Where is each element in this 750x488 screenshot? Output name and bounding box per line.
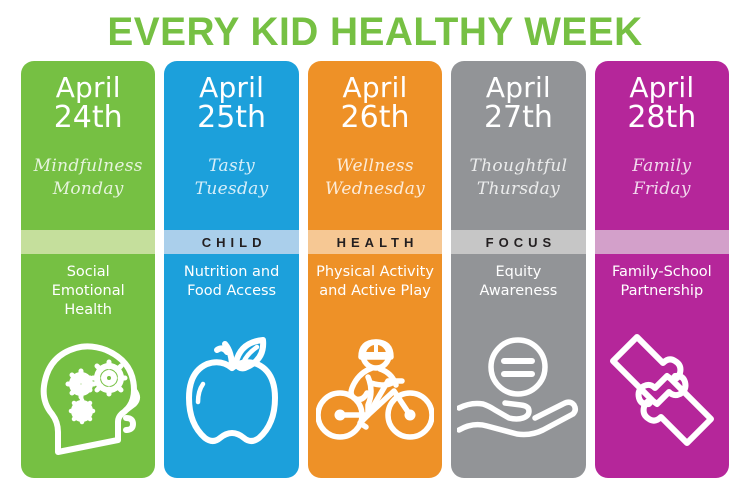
day-card-header: April 25th Tasty Tuesday xyxy=(164,61,298,230)
focus-line1: Nutrition and xyxy=(184,264,279,280)
focus-line2: Partnership xyxy=(620,283,703,299)
focus-band-segment: HEALTH xyxy=(308,230,442,254)
day-card-tuesday[interactable]: April 25th Tasty Tuesday CHILD Nutrition… xyxy=(164,61,298,478)
puzzle-pieces-icon xyxy=(595,301,729,478)
day-theme-name: Tasty Tuesday xyxy=(195,155,269,201)
focus-topic: Physical Activity and Active Play xyxy=(312,263,438,301)
day-theme-line2: Friday xyxy=(633,179,691,199)
focus-line1: Physical Activity xyxy=(316,264,434,280)
focus-line1: Family-School xyxy=(612,264,712,280)
focus-topic: Social Emotional Health xyxy=(48,263,129,320)
day-card-thursday[interactable]: April 27th Thoughtful Thursday FOCUS Equ… xyxy=(451,61,585,478)
day-theme-line2: Monday xyxy=(53,179,124,199)
day-date: April 25th xyxy=(197,73,266,133)
day-date: April 24th xyxy=(54,73,123,133)
day-number: 26th xyxy=(341,100,410,135)
focus-topic: Equity Awareness xyxy=(475,263,561,301)
day-card-header: April 26th Wellness Wednesday xyxy=(308,61,442,230)
focus-line1: Equity xyxy=(495,264,541,280)
day-date: April 26th xyxy=(341,73,410,133)
day-theme-name: Mindfulness Monday xyxy=(34,155,143,201)
day-number: 28th xyxy=(627,100,696,135)
focus-topic: Family-School Partnership xyxy=(608,263,716,301)
bicycle-rider-icon xyxy=(308,301,442,478)
focus-band-segment xyxy=(595,230,729,254)
day-columns: April 24th Mindfulness Monday Social Emo… xyxy=(21,61,729,478)
day-card-body: Nutrition and Food Access xyxy=(164,254,298,478)
day-card-header: April 27th Thoughtful Thursday xyxy=(451,61,585,230)
focus-line1: Social xyxy=(67,264,110,280)
apple-icon xyxy=(164,301,298,478)
day-card-header: April 24th Mindfulness Monday xyxy=(21,61,155,230)
head-gears-icon xyxy=(21,320,155,478)
focus-line2: Food Access xyxy=(187,283,276,299)
day-theme-name: Thoughtful Thursday xyxy=(470,155,568,201)
day-theme-line1: Mindfulness xyxy=(34,156,143,176)
focus-band-segment: CHILD xyxy=(164,230,298,254)
poster: EVERY KID HEALTHY WEEK April 24th Mindfu… xyxy=(0,0,750,488)
day-card-body: Social Emotional Health xyxy=(21,254,155,478)
day-number: 24th xyxy=(54,100,123,135)
day-theme-line2: Tuesday xyxy=(195,179,269,199)
day-theme-line1: Thoughtful xyxy=(470,156,568,176)
day-theme-name: Family Friday xyxy=(632,155,691,201)
day-theme-line1: Tasty xyxy=(208,156,255,176)
day-card-monday[interactable]: April 24th Mindfulness Monday Social Emo… xyxy=(21,61,155,478)
day-card-body: Family-School Partnership xyxy=(595,254,729,478)
day-theme-name: Wellness Wednesday xyxy=(325,155,425,201)
focus-band-segment: FOCUS xyxy=(451,230,585,254)
hand-equality-icon xyxy=(451,301,585,478)
day-card-body: Equity Awareness xyxy=(451,254,585,478)
day-card-wednesday[interactable]: April 26th Wellness Wednesday HEALTH Phy… xyxy=(308,61,442,478)
day-card-body: Physical Activity and Active Play xyxy=(308,254,442,478)
day-date: April 28th xyxy=(627,73,696,133)
focus-line3: Health xyxy=(64,302,112,318)
day-card-header: April 28th Family Friday xyxy=(595,61,729,230)
focus-line2: and Active Play xyxy=(319,283,431,299)
focus-line2: Emotional xyxy=(52,283,125,299)
day-number: 25th xyxy=(197,100,266,135)
day-theme-line1: Wellness xyxy=(336,156,414,176)
day-number: 27th xyxy=(484,100,553,135)
day-card-friday[interactable]: April 28th Family Friday Family-School P… xyxy=(595,61,729,478)
focus-topic: Nutrition and Food Access xyxy=(180,263,283,301)
focus-line2: Awareness xyxy=(479,283,557,299)
day-theme-line1: Family xyxy=(632,156,691,176)
day-date: April 27th xyxy=(484,73,553,133)
day-theme-line2: Thursday xyxy=(477,179,560,199)
day-theme-line2: Wednesday xyxy=(325,179,425,199)
page-title: EVERY KID HEALTHY WEEK xyxy=(11,8,739,56)
focus-band-segment xyxy=(21,230,155,254)
